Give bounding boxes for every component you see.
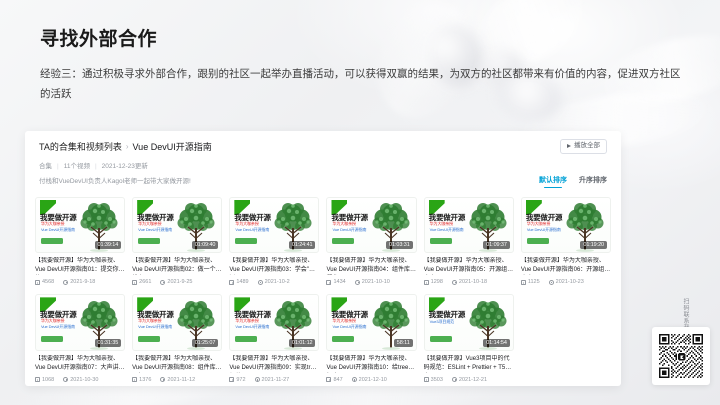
upload-date: 2021-9-18 xyxy=(63,278,95,286)
upload-date-value: 2021-10-23 xyxy=(556,278,584,286)
play-count-icon xyxy=(424,280,429,285)
upload-date: 2021-10-10 xyxy=(355,278,390,286)
thumb-cta-button xyxy=(235,336,257,342)
view-count-value: 1376 xyxy=(139,376,151,384)
meta-divider: | xyxy=(95,162,97,172)
clock-icon xyxy=(549,280,554,285)
video-duration: 01:03:31 xyxy=(386,241,413,249)
thumb-cta-button xyxy=(138,336,160,342)
video-title[interactable]: 【我要做开源】华为大咖亲授、Vue DevUI开源指南09：实现tree组件 xyxy=(229,355,319,373)
play-count-icon xyxy=(229,377,234,382)
video-stats: 972 2021-11-27 xyxy=(229,376,319,384)
play-count-icon xyxy=(326,280,331,285)
thumb-subtitle-blue: Vue DevUI开源指南 xyxy=(430,227,464,233)
video-card[interactable]: 我要做开源 华为大咖亲授 Vue DevUI开源指南 01:39:14 【我要做… xyxy=(35,197,125,286)
video-title[interactable]: 【我要做开源】华为大咖亲授、Vue DevUI开源指南01：提交你的第一... xyxy=(35,257,125,275)
clock-icon xyxy=(255,377,260,382)
video-stats: 1489 2021-10-2 xyxy=(229,278,319,286)
collection-description: 付栈和VueDevUI负责人Kagol老师一起带大家做开源! xyxy=(39,177,607,187)
page-subtitle: 经验三：通过积极寻求外部合作，跟别的社区一起举办直播活动，可以获得双赢的结果，为… xyxy=(40,64,690,104)
thumb-subtitle-blue: Vue DevUI开源指南 xyxy=(138,227,172,233)
video-grid: 我要做开源 华为大咖亲授 Vue DevUI开源指南 01:39:14 【我要做… xyxy=(25,187,621,386)
video-collection-panel: TA的合集和视频列表 › Vue DevUI开源指南 播放全部 合集 | 11个… xyxy=(25,131,621,386)
video-stats: 2661 2021-9-25 xyxy=(132,278,222,286)
upload-date: 2021-9-25 xyxy=(160,278,192,286)
view-count-value: 2661 xyxy=(139,278,151,286)
meta-divider: | xyxy=(57,162,59,172)
view-count: 3503 xyxy=(424,376,443,384)
clock-icon xyxy=(452,280,457,285)
upload-date-value: 2021-12-10 xyxy=(359,376,387,384)
upload-date: 2021-12-10 xyxy=(352,376,387,384)
video-title[interactable]: 【我要做开源】华为大咖亲授、Vue DevUI开源指南03：学会"单测" xyxy=(229,257,319,275)
qr-code-icon xyxy=(659,334,703,378)
upload-date: 2021-11-12 xyxy=(160,376,195,384)
video-stats: 1125 2021-10-23 xyxy=(521,278,611,286)
thumb-cta-button xyxy=(332,238,354,244)
upload-date: 2021-12-21 xyxy=(452,376,487,384)
play-count-icon xyxy=(35,377,40,382)
video-title[interactable]: 【我要做开源】华为大咖亲授、Vue DevUI开源指南10：给tree添加虚 xyxy=(326,355,416,373)
video-thumbnail[interactable]: 我要做开源 华为大咖亲授 Vue DevUI开源指南 01:19:20 xyxy=(521,197,611,253)
thumb-cta-button xyxy=(430,336,452,342)
breadcrumb-root-link[interactable]: TA的合集和视频列表 xyxy=(39,140,122,154)
video-duration: 01:31:35 xyxy=(95,339,122,347)
video-duration: 58:11 xyxy=(394,339,413,347)
upload-date-value: 2021-10-10 xyxy=(362,278,390,286)
play-count-icon xyxy=(132,377,137,382)
clock-icon xyxy=(160,280,165,285)
view-count-value: 1068 xyxy=(42,376,54,384)
video-thumbnail[interactable]: 我要做开源 华为大咖亲授 Vue DevUI开源指南 58:11 xyxy=(326,294,416,350)
clock-icon xyxy=(355,280,360,285)
video-title[interactable]: 【我要做开源】华为大咖亲授、Vue DevUI开源指南07：大声讲、项目 xyxy=(35,355,125,373)
panel-header: TA的合集和视频列表 › Vue DevUI开源指南 播放全部 合集 | 11个… xyxy=(25,131,621,187)
play-icon xyxy=(567,144,571,148)
meta-updated-date: 2021-12-23更新 xyxy=(102,162,148,172)
video-card[interactable]: 我要做开源 华为大咖亲授 Vue DevUI开源指南 01:24:41 【我要做… xyxy=(229,197,319,286)
video-title[interactable]: 【我要做开源】华为大咖亲授、Vue DevUI开源指南05：开源组件库中 xyxy=(424,257,514,275)
clock-icon xyxy=(160,377,165,382)
play-count-icon xyxy=(35,280,40,285)
view-count: 4568 xyxy=(35,278,54,286)
video-thumbnail[interactable]: 我要做开源 华为大咖亲授 Vue DevUI开源指南 01:09:40 xyxy=(132,197,222,253)
upload-date-value: 2021-11-12 xyxy=(167,376,195,384)
view-count: 1434 xyxy=(326,278,345,286)
video-stats: 847 2021-12-10 xyxy=(326,376,416,384)
view-count: 1125 xyxy=(521,278,540,286)
video-stats: 1434 2021-10-10 xyxy=(326,278,416,286)
video-stats: 4568 2021-9-18 xyxy=(35,278,125,286)
meta-type: 合集 xyxy=(39,162,52,172)
video-duration: 01:01:12 xyxy=(289,339,316,347)
page-title: 寻找外部合作 xyxy=(40,24,157,51)
view-count-value: 1125 xyxy=(528,278,540,286)
upload-date-value: 2021-11-27 xyxy=(262,376,290,384)
view-count-value: 1434 xyxy=(333,278,345,286)
view-count: 2661 xyxy=(132,278,151,286)
thumb-subtitle-blue: Vue DevUI开源指南 xyxy=(138,324,172,330)
thumb-subtitle-blue: Vue DevUI开源指南 xyxy=(332,227,366,233)
upload-date-value: 2021-10-18 xyxy=(459,278,487,286)
video-title[interactable]: 【我要做开源】华为大咖亲授、Vue DevUI开源指南02：做一个有模有... xyxy=(132,257,222,275)
video-thumbnail[interactable]: 我要做开源 华为大咖亲授 Vue DevUI开源指南 01:39:14 xyxy=(35,197,125,253)
thumb-subtitle-blue: Vue DevUI开源指南 xyxy=(332,324,366,330)
collection-meta: 合集 | 11个视频 | 2021-12-23更新 xyxy=(39,162,607,172)
video-card[interactable]: 我要做开源 华为大咖亲授 Vue DevUI开源指南 01:25:07 【我要做… xyxy=(132,294,222,383)
upload-date-value: 2021-10-2 xyxy=(265,278,290,286)
upload-date: 2021-10-23 xyxy=(549,278,584,286)
thumb-subtitle-blue: Vue DevUI开源指南 xyxy=(235,324,269,330)
video-card[interactable]: 我要做开源 华为大咖亲授 Vue DevUI开源指南 01:09:40 【我要做… xyxy=(132,197,222,286)
breadcrumb-current: Vue DevUI开源指南 xyxy=(133,140,212,154)
video-card[interactable]: 我要做开源 华为大咖亲授 Vue DevUI开源指南 01:03:31 【我要做… xyxy=(326,197,416,286)
video-card[interactable]: 我要做开源 华为大咖亲授 Vue DevUI开源指南 01:09:37 【我要做… xyxy=(424,197,514,286)
video-title[interactable]: 【我要做开源】华为大咖亲授、Vue DevUI开源指南08：组件库使用打 xyxy=(132,355,222,373)
thumb-cta-button xyxy=(41,238,63,244)
video-card[interactable]: 我要做开源 华为大咖亲授 Vue DevUI开源指南 01:31:35 【我要做… xyxy=(35,294,125,383)
view-count-value: 847 xyxy=(333,376,342,384)
qr-code-card xyxy=(652,327,710,385)
play-count-icon xyxy=(521,280,526,285)
play-all-button[interactable]: 播放全部 xyxy=(560,139,607,154)
play-count-icon xyxy=(229,280,234,285)
upload-date-value: 2021-12-21 xyxy=(459,376,487,384)
video-title[interactable]: 【我要做开源】华为大咖亲授、Vue DevUI开源指南06：开源组件库中 xyxy=(521,257,611,275)
view-count-value: 1489 xyxy=(236,278,248,286)
clock-icon xyxy=(63,280,68,285)
video-title[interactable]: 【我要做开源】华为大咖亲授、Vue DevUI开源指南04：组件库工程化 xyxy=(326,257,416,275)
video-thumbnail[interactable]: 我要做开源 华为大咖亲授 Vue DevUI开源指南 01:09:37 xyxy=(424,197,514,253)
video-thumbnail[interactable]: 我要做开源 华为大咖亲授 Vue DevUI开源指南 01:01:12 xyxy=(229,294,319,350)
upload-date: 2021-10-18 xyxy=(452,278,487,286)
video-duration: 01:14:54 xyxy=(483,339,510,347)
sort-ascending-option[interactable]: 升序排序 xyxy=(579,175,607,188)
view-count-value: 3503 xyxy=(431,376,443,384)
video-card[interactable]: 我要做开源 华为大咖亲授 Vue DevUI开源指南 01:19:20 【我要做… xyxy=(521,197,611,286)
thumb-cta-button xyxy=(332,336,354,342)
view-count: 847 xyxy=(326,376,342,384)
view-count-value: 4568 xyxy=(42,278,54,286)
view-count: 1298 xyxy=(424,278,443,286)
video-thumbnail[interactable]: 我要做开源 华为大咖亲授 Vue DevUI开源指南 01:31:35 xyxy=(35,294,125,350)
sort-controls: 默认排序 升序排序 xyxy=(539,175,607,188)
thumb-subtitle-blue: Vue3项目规范 xyxy=(430,319,454,325)
thumb-cta-button xyxy=(430,238,452,244)
video-card[interactable]: 我要做开源 华为大咖亲授 Vue DevUI开源指南 58:11 【我要做开源】… xyxy=(326,294,416,383)
clock-icon xyxy=(352,377,357,382)
play-count-icon xyxy=(132,280,137,285)
thumb-subtitle-blue: Vue DevUI开源指南 xyxy=(41,324,75,330)
video-stats: 1376 2021-11-12 xyxy=(132,376,222,384)
play-count-icon xyxy=(424,377,429,382)
upload-date: 2021-10-2 xyxy=(258,278,290,286)
upload-date-value: 2021-9-18 xyxy=(70,278,95,286)
play-all-label: 播放全部 xyxy=(574,143,600,150)
video-duration: 01:09:37 xyxy=(483,241,510,249)
video-card[interactable]: 我要做开源 华为大咖亲授 Vue DevUI开源指南 01:01:12 【我要做… xyxy=(229,294,319,383)
clock-icon xyxy=(63,377,68,382)
breadcrumb: TA的合集和视频列表 › Vue DevUI开源指南 xyxy=(39,140,607,154)
thumb-subtitle-blue: Vue DevUI开源指南 xyxy=(235,227,269,233)
video-thumbnail[interactable]: 我要做开源 华为大咖亲授 Vue DevUI开源指南 01:25:07 xyxy=(132,294,222,350)
video-duration: 01:09:40 xyxy=(192,241,219,249)
sort-default-option[interactable]: 默认排序 xyxy=(539,175,567,188)
video-stats: 1298 2021-10-18 xyxy=(424,278,514,286)
view-count-value: 1298 xyxy=(431,278,443,286)
upload-date-value: 2021-10-30 xyxy=(70,376,98,384)
thumb-subtitle-blue: Vue DevUI开源指南 xyxy=(527,227,561,233)
video-thumbnail[interactable]: 我要做开源 华为大咖亲授 Vue DevUI开源指南 01:24:41 xyxy=(229,197,319,253)
thumb-cta-button xyxy=(235,238,257,244)
view-count: 1376 xyxy=(132,376,151,384)
video-card[interactable]: 我要做开源 Vue3项目规范 01:14:54 【我要做开源】Vue3项目中的代… xyxy=(424,294,514,383)
thumb-cta-button xyxy=(138,238,160,244)
video-stats: 1068 2021-10-30 xyxy=(35,376,125,384)
upload-date: 2021-10-30 xyxy=(63,376,98,384)
upload-date: 2021-11-27 xyxy=(255,376,290,384)
chevron-right-icon: › xyxy=(126,140,129,154)
clock-icon xyxy=(452,377,457,382)
video-duration: 01:25:07 xyxy=(192,339,219,347)
view-count: 1068 xyxy=(35,376,54,384)
video-duration: 01:39:14 xyxy=(95,241,122,249)
video-thumbnail[interactable]: 我要做开源 Vue3项目规范 01:14:54 xyxy=(424,294,514,350)
video-duration: 01:24:41 xyxy=(289,241,316,249)
view-count: 1489 xyxy=(229,278,248,286)
view-count: 972 xyxy=(229,376,245,384)
thumb-subtitle-blue: Vue DevUI开源指南 xyxy=(41,227,75,233)
video-title[interactable]: 【我要做开源】Vue3项目中的代码规范：ESLint + Prettier + … xyxy=(424,355,514,373)
video-thumbnail[interactable]: 我要做开源 华为大咖亲授 Vue DevUI开源指南 01:03:31 xyxy=(326,197,416,253)
video-stats: 3503 2021-12-21 xyxy=(424,376,514,384)
thumb-cta-button xyxy=(41,336,63,342)
play-count-icon xyxy=(326,377,331,382)
upload-date-value: 2021-9-25 xyxy=(167,278,192,286)
thumb-cta-button xyxy=(527,238,549,244)
video-duration: 01:19:20 xyxy=(580,241,607,249)
view-count-value: 972 xyxy=(236,376,245,384)
clock-icon xyxy=(258,280,263,285)
meta-video-count: 11个视频 xyxy=(64,162,90,172)
